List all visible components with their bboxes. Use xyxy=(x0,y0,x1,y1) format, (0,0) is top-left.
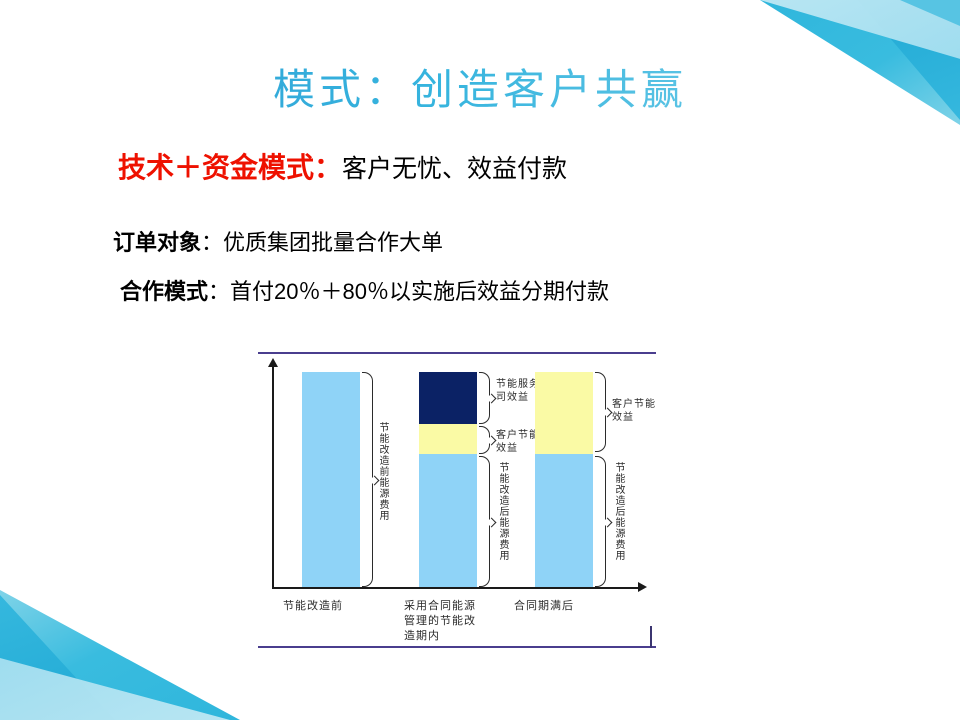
bullet-label-1: 订单对象 xyxy=(113,230,201,255)
label-bar1-energy-cost-before: 节能改造前能源费用 xyxy=(376,422,388,521)
brace-bar2-esco-benefit xyxy=(479,372,490,424)
corner-decoration-bottom-left-c xyxy=(0,595,140,720)
subtitle-rest: 客户无忧、效益付款 xyxy=(342,155,567,183)
bullet-order-target: 订单对象：优质集团批量合作大单 xyxy=(113,225,443,257)
subtitle-highlight: 技术＋资金模式： xyxy=(118,152,342,183)
brace-bar1-energy-cost-before xyxy=(362,372,373,587)
y-axis-arrow-icon xyxy=(268,358,278,367)
bar-segment-energy-cost-after-b2 xyxy=(419,454,477,587)
brace-bar3-customer-benefit xyxy=(595,372,606,452)
chart-rule-bottom xyxy=(258,646,656,648)
bar-during-contract xyxy=(419,372,477,587)
y-axis-line xyxy=(272,364,274,588)
bullet-sep-1: ： xyxy=(201,230,223,255)
brace-bar2-energy-cost-after xyxy=(479,456,490,587)
bar-after-contract xyxy=(535,372,593,587)
bar-segment-customer-benefit xyxy=(419,424,477,454)
label-bar3-customer-benefit: 客户节能效益 xyxy=(612,398,660,424)
x-axis-line xyxy=(272,587,640,589)
brace-bar2-customer-benefit xyxy=(479,426,490,454)
x-axis-label-after: 合同期满后 xyxy=(514,598,604,613)
label-bar3-energy-cost-after: 节能改造后能源费用 xyxy=(612,462,624,561)
label-bar2-energy-cost-after: 节能改造后能源费用 xyxy=(496,462,508,561)
brace-bar3-energy-cost-after xyxy=(595,456,606,587)
x-axis-arrow-icon xyxy=(638,582,647,592)
bullet-cooperation-mode: 合作模式：首付20％＋80％以实施后效益分期付款 xyxy=(120,274,609,306)
bullet-sep-2: ： xyxy=(208,279,230,304)
bullet-value-1: 优质集团批量合作大单 xyxy=(223,230,443,255)
corner-decoration-bottom-left-b xyxy=(0,620,230,720)
bullet-value-2: 首付20％＋80％以实施后效益分期付款 xyxy=(230,279,609,304)
corner-decoration-top-right-d xyxy=(900,0,960,26)
bar-segment-esco-benefit xyxy=(419,372,477,424)
slide-title: 模式：创造客户共赢 xyxy=(0,56,960,117)
chart-rule-end-tick xyxy=(650,626,652,648)
slide-subtitle: 技术＋资金模式：客户无忧、效益付款 xyxy=(118,146,567,186)
bullet-label-2: 合作模式 xyxy=(120,279,208,304)
x-axis-label-before: 节能改造前 xyxy=(283,598,383,613)
bar-segment-energy-cost-after-b3 xyxy=(535,454,593,587)
chart-rule-top xyxy=(258,352,656,354)
bar-segment-customer-benefit-b3 xyxy=(535,372,593,454)
energy-saving-stacked-bar-chart: 节能改造前能源费用 节能服务公司效益 客户节能效益 节能改造后能源费用 客户节能… xyxy=(258,350,658,650)
bar-segment-energy-cost-before xyxy=(302,372,360,587)
corner-decoration-bottom-left-a xyxy=(0,590,240,720)
slide-canvas: 模式：创造客户共赢 技术＋资金模式：客户无忧、效益付款 订单对象：优质集团批量合… xyxy=(0,0,960,720)
bar-before-retrofit xyxy=(302,372,360,587)
x-axis-label-during: 采用合同能源管理的节能改造期内 xyxy=(404,598,482,643)
